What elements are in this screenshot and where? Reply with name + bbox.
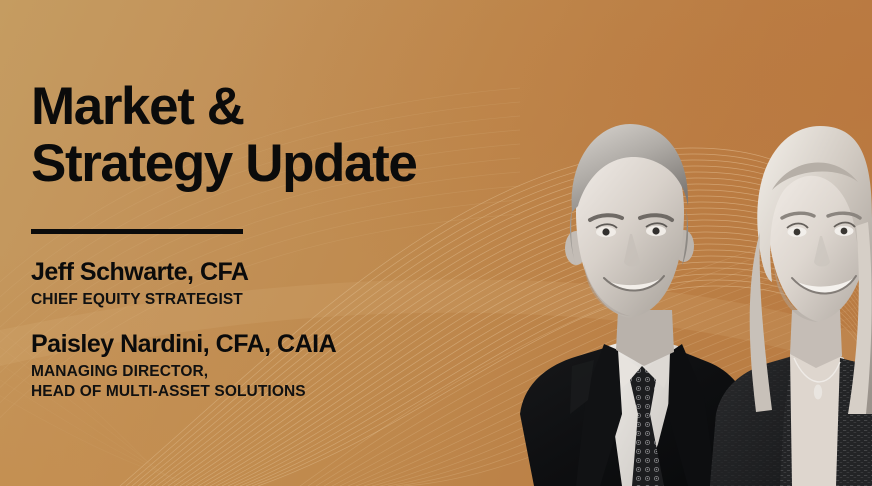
speaker-block-1: Jeff Schwarte, CFA CHIEF EQUITY STRATEGI… [31, 258, 248, 310]
speaker-role-1: CHIEF EQUITY STRATEGIST [31, 290, 248, 310]
market-strategy-update-banner: Market & Strategy Update Jeff Schwarte, … [0, 0, 872, 486]
speaker-name-1: Jeff Schwarte, CFA [31, 258, 248, 287]
portrait-paisley-nardini [710, 126, 872, 486]
speaker-role-2: MANAGING DIRECTOR, HEAD OF MULTI-ASSET S… [31, 362, 336, 402]
speaker-name-2: Paisley Nardini, CFA, CAIA [31, 330, 336, 359]
page-title: Market & Strategy Update [31, 78, 416, 192]
text-column: Market & Strategy Update Jeff Schwarte, … [31, 0, 501, 486]
presenters-photo [472, 114, 872, 486]
title-divider-rule [31, 229, 243, 234]
speaker-block-2: Paisley Nardini, CFA, CAIA MANAGING DIRE… [31, 330, 336, 401]
